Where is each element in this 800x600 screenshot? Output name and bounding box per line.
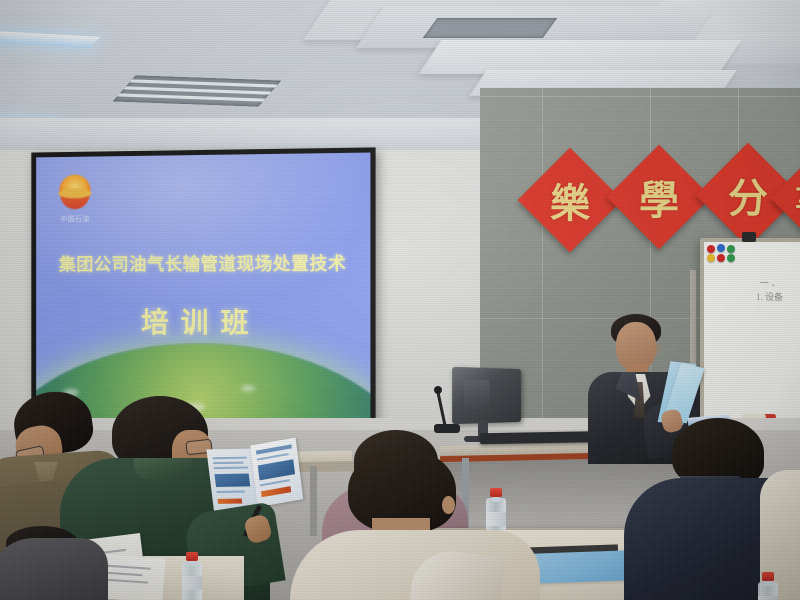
water-bottle-left[interactable] [182,552,202,600]
lcd-monitor[interactable] [452,368,524,428]
presenter-head [616,322,656,370]
magnet-red-1 [707,245,715,253]
wall-banner-character-4: 享 [782,170,800,226]
whiteboard-note-2: 1. 设备 [756,290,783,303]
magnet-green-1 [727,245,735,253]
water-bottle-right[interactable] [758,572,778,600]
wall-banner-diamond-1: 樂 [518,148,623,253]
magnet-green-2 [727,254,735,262]
logo-caption: 中国石油 [55,214,94,224]
microphone-head-left [434,386,442,394]
fluorescent-strip-light [0,31,101,48]
brochure[interactable] [206,439,303,513]
whiteboard-note-1: 一 、 [760,276,780,289]
magnet-blue [717,244,725,252]
ceiling-grille-icon [423,18,558,38]
attendee-green-collar [134,458,192,480]
meeting-room-photo: 樂 學 分 享 一 、 1. 设备 [0,0,800,600]
slide-title: 集团公司油气长输管道现场处置技术 [36,250,370,276]
whiteboard-clip-icon [742,232,756,242]
ceiling-coffer-3 [419,40,742,74]
attendee-cream-jacket [300,448,550,600]
wall-banner-character-1: 樂 [533,163,607,237]
attendee-grey-front [0,538,108,600]
petrochina-logo: 中国石油 [55,174,94,226]
ceiling-light-grille-icon [113,75,281,106]
presenter-ear [652,342,661,354]
wall-banner-character-2: 學 [622,160,696,234]
magnet-yellow [707,254,715,262]
magnet-red-2 [717,254,725,262]
whiteboard[interactable]: 一 、 1. 设备 [700,238,800,434]
wall-banner-diamond-2: 學 [607,145,712,250]
attendee-cream-ear [442,496,455,514]
slide-subtitle: 培训班 [36,301,370,342]
